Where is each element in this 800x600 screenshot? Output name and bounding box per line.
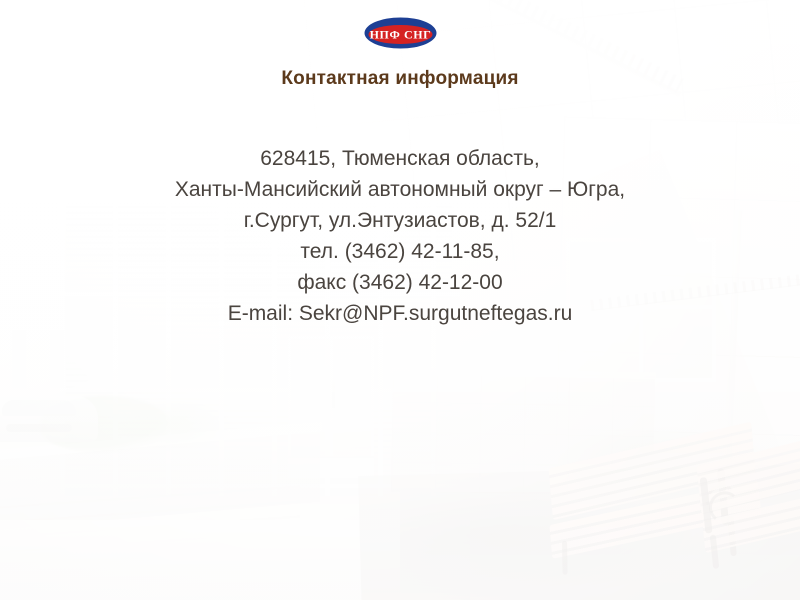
- contact-line-email: E-mail: Sekr@NPF.surgutneftegas.ru: [0, 298, 800, 329]
- contact-line-postal-region: 628415, Тюменская область,: [0, 143, 800, 174]
- slide: НПФ СНГ Контактная информация 628415, Тю…: [0, 0, 800, 600]
- contact-line-okrug: Ханты-Мансийский автономный округ – Югра…: [0, 174, 800, 205]
- contact-line-fax: факс (3462) 42-12-00: [0, 267, 800, 298]
- contact-information-block: 628415, Тюменская область, Ханты-Мансийс…: [0, 143, 800, 329]
- contact-line-street: г.Сургут, ул.Энтузиастов, д. 52/1: [0, 205, 800, 236]
- logo-text: НПФ СНГ: [370, 28, 432, 42]
- npf-sng-logo: НПФ СНГ: [364, 17, 437, 49]
- page-title: Контактная информация: [0, 68, 800, 90]
- contact-line-phone: тел. (3462) 42-11-85,: [0, 236, 800, 267]
- npf-sng-logo-icon: НПФ СНГ: [364, 17, 437, 49]
